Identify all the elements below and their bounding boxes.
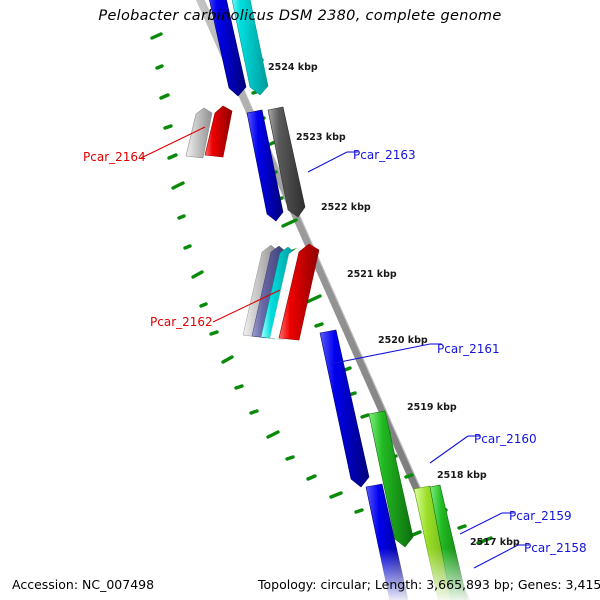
tick-label-2523: 2523 kbp [296, 132, 346, 143]
gene-label-pcar-2161[interactable]: Pcar_2161 [437, 342, 500, 356]
gene-glyph-pcar-2162[interactable] [243, 244, 319, 340]
gene-glyph-pcar-2164[interactable] [186, 106, 232, 158]
accession-text: Accession: NC_007498 [12, 577, 154, 592]
gene-label-pcar-2164[interactable]: Pcar_2164 [83, 150, 146, 164]
tick-label-2520: 2520 kbp [378, 335, 428, 346]
tick-label-2524: 2524 kbp [268, 62, 318, 73]
gene-glyph-pcar-2161[interactable] [320, 330, 369, 487]
gene-label-pcar-2163[interactable]: Pcar_2163 [353, 148, 416, 162]
tick-label-2517: 2517 kbp [470, 537, 520, 548]
genome-map-viewer: Pelobacter carbinolicus DSM 2380, comple… [0, 0, 600, 600]
genome-info-text: Topology: circular; Length: 3,665,893 bp… [258, 577, 600, 592]
gene-glyph-top-cluster[interactable] [205, 0, 268, 96]
gene-label-pcar-2162[interactable]: Pcar_2162 [150, 315, 213, 329]
tick-label-2518: 2518 kbp [437, 470, 487, 481]
gene-label-pcar-2159[interactable]: Pcar_2159 [509, 509, 572, 523]
tick-label-2522: 2522 kbp [321, 202, 371, 213]
tick-label-2519: 2519 kbp [407, 402, 457, 413]
gene-label-pcar-2160[interactable]: Pcar_2160 [474, 432, 537, 446]
tick-label-2521: 2521 kbp [347, 269, 397, 280]
gene-label-pcar-2158[interactable]: Pcar_2158 [524, 541, 587, 555]
status-bar: Accession: NC_007498 Topology: circular;… [0, 566, 600, 600]
